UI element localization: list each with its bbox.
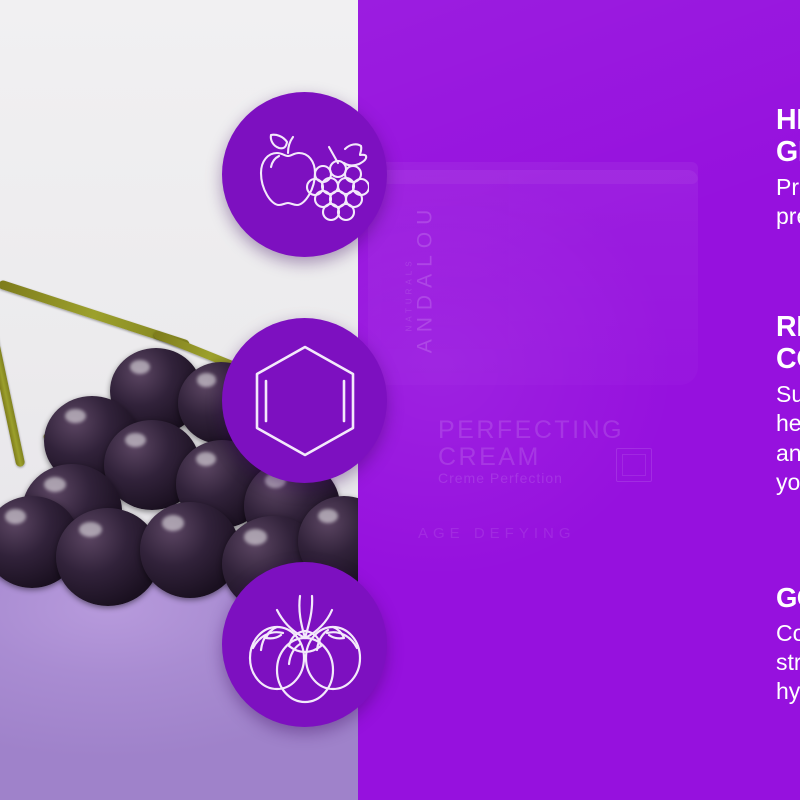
benefit-block-1: HEIRLOOM APPLE & GRAPE STEM CELLS Protec… (776, 105, 800, 232)
benefit-block-3: GOJI GLYCOPEPTIDES Combines firming, lif… (776, 583, 800, 706)
benefit-body-2: Super antioxidants that help support col… (776, 380, 800, 497)
ghost-brand-label: ANDALOU (413, 203, 437, 354)
goji-berries-icon (245, 586, 365, 704)
hexagon-molecule-icon (252, 343, 358, 459)
ghost-product-jar: ANDALOU NATURALS PERFECTING CREAM Creme … (368, 170, 698, 385)
benefit-icon-circle-1 (222, 92, 387, 257)
benefit-icon-circle-3 (222, 562, 387, 727)
benefit-block-2: RESVERATROL COQ10 Super antioxidants tha… (776, 312, 800, 497)
benefit-heading-1: HEIRLOOM APPLE & GRAPE STEM CELLS (776, 105, 800, 168)
apple-and-grapes-icon (241, 123, 369, 227)
benefit-heading-2: RESVERATROL COQ10 (776, 312, 800, 375)
ghost-product-line3: Creme Perfection (438, 470, 563, 486)
ghost-brand-sub-label: NATURALS (405, 257, 414, 331)
benefit-body-1: Protects skin stem cells from premature … (776, 173, 800, 231)
panel-sheen (358, 0, 800, 800)
benefit-body-3: Combines firming, lifting and strengthen… (776, 619, 800, 707)
ingredient-benefits-infographic: ANDALOU NATURALS PERFECTING CREAM Creme … (0, 0, 800, 800)
ghost-seal-icon (616, 448, 652, 482)
benefit-icon-circle-2 (222, 318, 387, 483)
ghost-product-line2: CREAM (438, 443, 541, 472)
ghost-product-line1: PERFECTING (438, 416, 624, 445)
benefit-heading-3: GOJI GLYCOPEPTIDES (776, 583, 800, 614)
ghost-product-line4: AGE DEFYING (418, 525, 576, 542)
benefits-purple-panel: ANDALOU NATURALS PERFECTING CREAM Creme … (358, 0, 800, 800)
